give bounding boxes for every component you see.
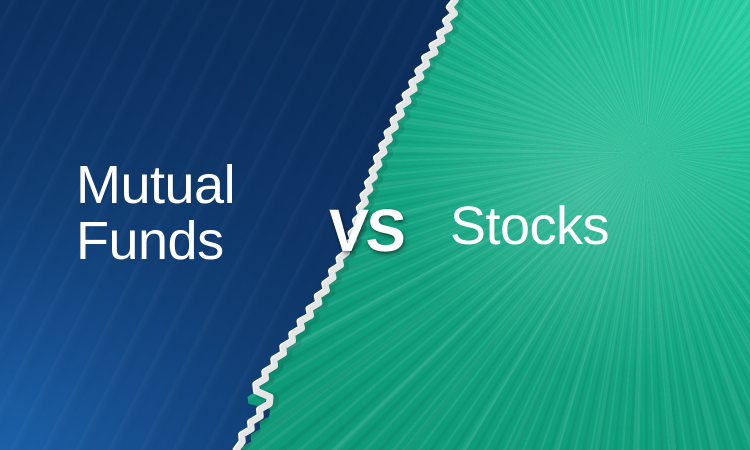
banner-canvas: Mutual Funds VS Stocks <box>0 0 750 450</box>
versus-badge: VS <box>326 196 406 265</box>
left-title-mutual-funds: Mutual Funds <box>76 157 235 269</box>
right-title-stocks: Stocks <box>450 198 609 254</box>
